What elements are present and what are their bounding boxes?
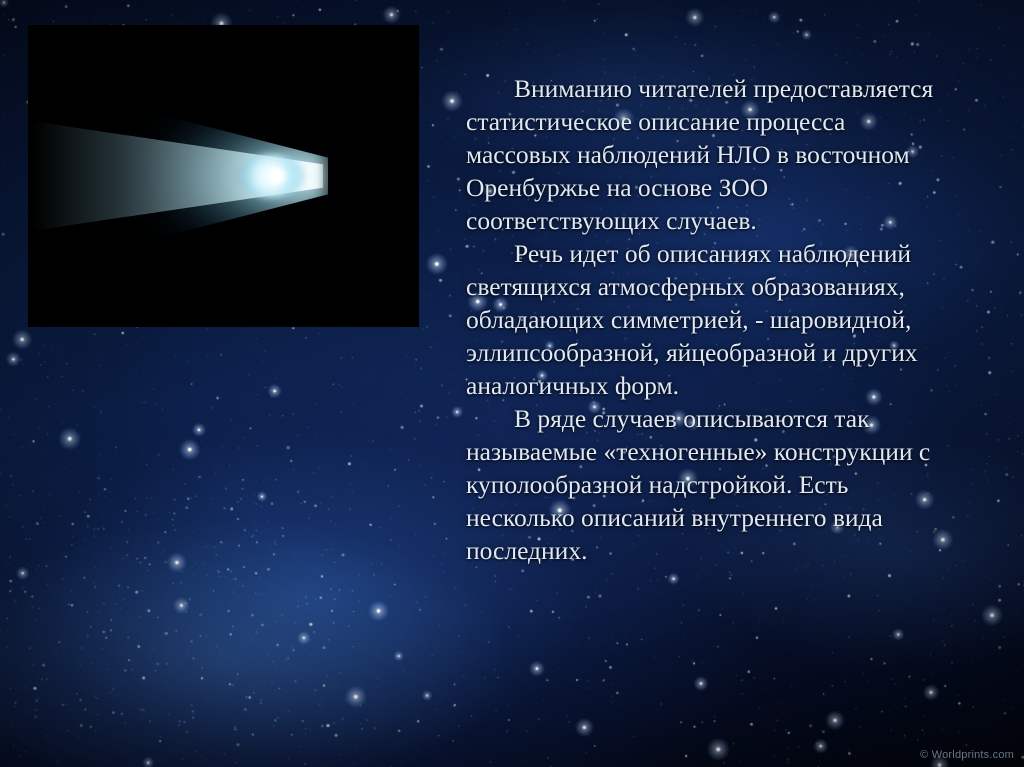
comet-image-core — [28, 25, 419, 327]
watermark-label: © Worldprints.com — [920, 749, 1014, 761]
comet-nucleus — [265, 167, 287, 185]
paragraph-2: Речь идет об описаниях наблюдений светящ… — [466, 237, 936, 402]
slide: Вниманию читателей предоставляется стати… — [0, 0, 1024, 767]
paragraph-3: В ряде случаев описываются так называемы… — [466, 402, 936, 567]
slide-body-text: Вниманию читателей предоставляется стати… — [466, 72, 936, 567]
comet-photograph — [28, 25, 419, 327]
paragraph-1: Вниманию читателей предоставляется стати… — [466, 72, 936, 237]
